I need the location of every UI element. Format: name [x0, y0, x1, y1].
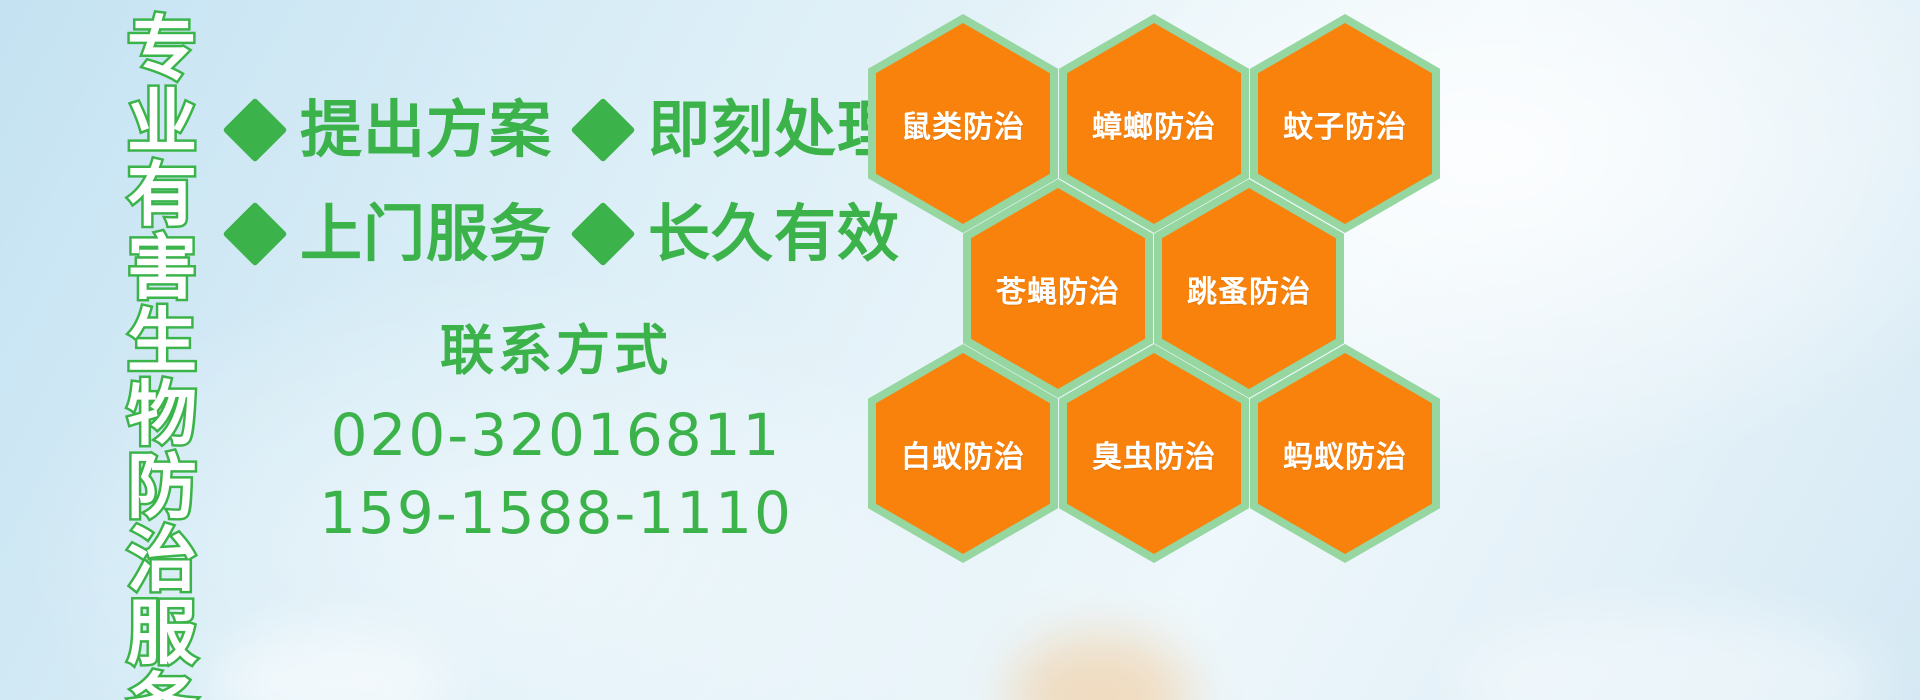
diamond-bullet-icon [222, 201, 287, 266]
feature-item: 即刻处理 [580, 99, 900, 161]
vertical-title-char: 服 [127, 598, 197, 668]
hex-label: 跳蚤防治 [1187, 267, 1311, 311]
hex-label: 蟑螂防治 [1092, 102, 1216, 146]
diamond-bullet-icon [222, 97, 287, 162]
contact-phone-mobile[interactable]: 159-1588-1110 [236, 474, 876, 552]
vertical-title: 专 业 有 害 生 物 防 治 服 务 [108, 14, 216, 674]
feature-item: 长久有效 [580, 203, 900, 265]
feature-item: 上门服务 [232, 203, 552, 265]
hex-label: 鼠类防治 [901, 102, 1025, 146]
contact-phone-landline[interactable]: 020-32016811 [236, 396, 876, 474]
service-honeycomb: 鼠类防治 蟑螂防治 蚊子防治 苍蝇防治 跳蚤防治 白蚁防治 臭虫防治 蚂蚁 [860, 0, 1460, 560]
feature-row: 上门服务 长久有效 [232, 182, 872, 286]
vertical-title-char: 务 [127, 671, 197, 700]
hex-label: 蚊子防治 [1283, 102, 1407, 146]
diamond-bullet-icon [570, 97, 635, 162]
hex-label: 白蚁防治 [901, 432, 1025, 476]
background-blur-center [1010, 635, 1190, 700]
vertical-title-char: 治 [127, 525, 197, 595]
hex-label: 臭虫防治 [1092, 432, 1216, 476]
hex-label: 蚂蚁防治 [1283, 432, 1407, 476]
feature-label: 上门服务 [300, 203, 552, 265]
feature-row: 提出方案 即刻处理 [232, 78, 872, 182]
feature-item: 提出方案 [232, 99, 552, 161]
vertical-title-char: 防 [127, 452, 197, 522]
background-blur-right [1460, 610, 1880, 700]
vertical-title-char: 有 [127, 160, 197, 230]
vertical-title-char: 业 [127, 87, 197, 157]
feature-list: 提出方案 即刻处理 上门服务 长久有效 [232, 78, 872, 286]
hex-label: 苍蝇防治 [996, 267, 1120, 311]
feature-label: 提出方案 [300, 99, 552, 161]
vertical-title-char: 物 [127, 379, 197, 449]
contact-title: 联系方式 [236, 320, 876, 382]
diamond-bullet-icon [570, 201, 635, 266]
vertical-title-char: 生 [127, 306, 197, 376]
contact-block: 联系方式 020-32016811 159-1588-1110 [236, 320, 876, 552]
vertical-title-char: 害 [127, 233, 197, 303]
pest-control-banner: 专 业 有 害 生 物 防 治 服 务 提出方案 即刻处理 上门服务 [0, 0, 1920, 700]
background-blur-left [210, 630, 450, 700]
vertical-title-char: 专 [127, 14, 197, 84]
